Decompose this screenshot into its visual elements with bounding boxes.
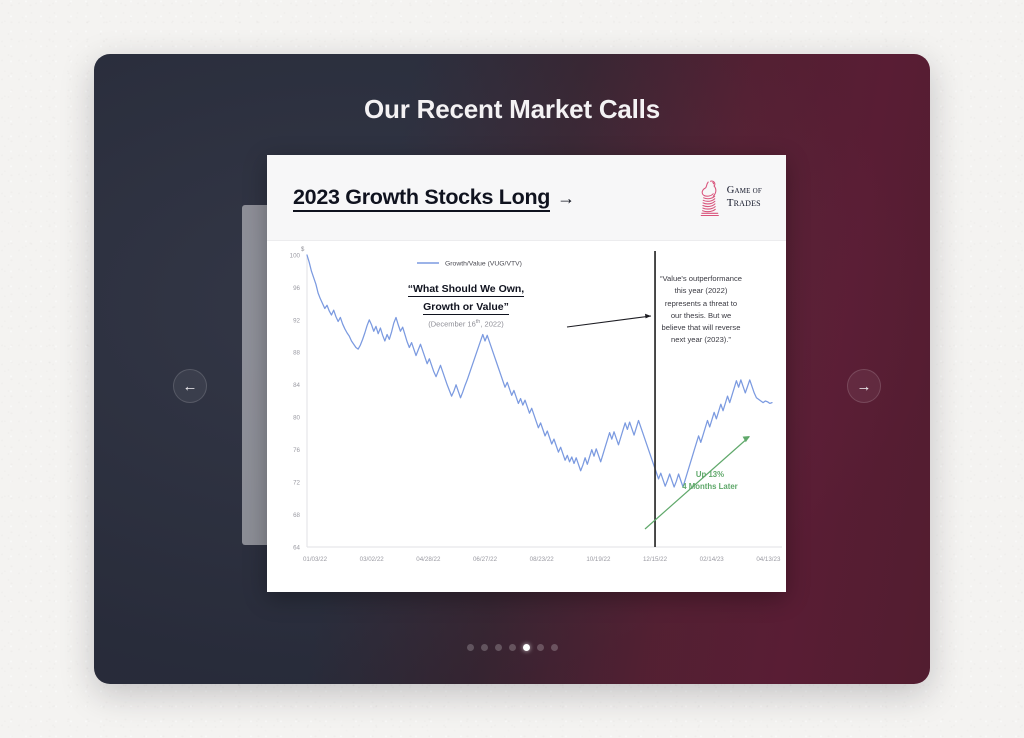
y-axis-unit-symbol: $: [301, 247, 305, 253]
gain-annotation: Up 13% 4 Months Later: [665, 469, 755, 492]
slide-heading[interactable]: 2023 Growth Stocks Long→: [293, 185, 575, 210]
brand-wordmark: GAMEOF TRADES: [727, 186, 762, 209]
y-tick-label: 72: [293, 480, 300, 487]
slide-heading-arrow-icon: →: [557, 188, 575, 208]
y-tick-label: 64: [293, 544, 300, 551]
call-annotation-line1: “What Should We Own,: [408, 283, 524, 297]
active-slide-card[interactable]: 2023 Growth Stocks Long→: [267, 155, 786, 592]
x-tick-label: 02/14/23: [700, 556, 725, 563]
x-tick-label: 04/28/22: [416, 556, 441, 563]
pagination-dot-3[interactable]: [495, 644, 502, 651]
call-date-suffix: , 2022): [480, 320, 503, 329]
call-annotation: “What Should We Own, Growth or Value” (D…: [371, 279, 561, 329]
pagination-dots[interactable]: [94, 644, 930, 651]
annotation-pointer-arrow: [567, 316, 651, 327]
gain-annotation-line1: Up 13%: [665, 469, 755, 481]
x-tick-label: 03/02/22: [360, 556, 385, 563]
x-tick-label: 01/03/22: [303, 556, 328, 563]
thesis-quote-line: “Value's outperformance: [640, 273, 762, 285]
y-axis: 646872768084889296100: [290, 252, 301, 551]
y-tick-label: 80: [293, 415, 300, 422]
pagination-dot-4[interactable]: [509, 644, 516, 651]
brand-logo: GAMEOF TRADES: [697, 178, 762, 218]
slide-heading-label: 2023 Growth Stocks Long: [293, 185, 550, 212]
thesis-quote-line: our thesis. But we: [640, 310, 762, 322]
x-tick-label: 04/13/23: [756, 556, 781, 563]
carousel-prev-button[interactable]: ←: [173, 369, 207, 403]
y-tick-label: 100: [290, 252, 301, 259]
call-date-prefix: (December 16: [428, 320, 476, 329]
x-axis: 01/03/2203/02/2204/28/2206/27/2208/23/22…: [303, 556, 781, 563]
arrow-right-icon: →: [857, 378, 872, 395]
brand-ame: AME: [734, 187, 750, 195]
thesis-quote-line: believe that will reverse: [640, 322, 762, 334]
gain-annotation-line2: 4 Months Later: [665, 481, 755, 493]
x-tick-label: 06/27/22: [473, 556, 498, 563]
thesis-quote-line: this year (2022): [640, 285, 762, 297]
call-annotation-line2: Growth or Value”: [423, 301, 509, 315]
slide-stack: 2023 Growth Stocks Long→: [94, 155, 930, 595]
legend-label: Growth/Value (VUG/VTV): [445, 261, 522, 268]
y-tick-label: 96: [293, 285, 300, 292]
brand-rades: RADES: [734, 199, 761, 208]
brand-wordmark-line2: TRADES: [727, 198, 762, 209]
brand-t: T: [727, 197, 734, 209]
call-annotation-date: (December 16th, 2022): [371, 319, 561, 329]
pagination-dot-6[interactable]: [537, 644, 544, 651]
y-tick-label: 76: [293, 447, 300, 454]
y-tick-label: 84: [293, 382, 300, 389]
page-title: Our Recent Market Calls: [94, 94, 930, 125]
chess-knight-icon: [697, 178, 723, 218]
x-tick-label: 12/15/22: [643, 556, 668, 563]
y-tick-label: 68: [293, 512, 300, 519]
arrow-left-icon: ←: [183, 378, 198, 395]
carousel-next-button[interactable]: →: [847, 369, 881, 403]
brand-wordmark-line1: GAMEOF: [727, 186, 762, 197]
brand-of: OF: [753, 187, 762, 195]
y-tick-label: 88: [293, 350, 300, 357]
pagination-dot-2[interactable]: [481, 644, 488, 651]
x-tick-label: 08/23/22: [530, 556, 555, 563]
thesis-quote-line: next year (2023).”: [640, 334, 762, 346]
carousel-panel: Our Recent Market Calls 2023 Growth Stoc…: [94, 54, 930, 684]
thesis-quote-line: represents a threat to: [640, 298, 762, 310]
slide-header: 2023 Growth Stocks Long→: [267, 155, 786, 241]
y-tick-label: 92: [293, 317, 300, 324]
thesis-quote: “Value's outperformance this year (2022)…: [640, 273, 762, 347]
x-tick-label: 10/19/22: [586, 556, 611, 563]
pagination-dot-5[interactable]: [523, 644, 530, 651]
chart-area: 646872768084889296100 01/03/2203/02/2204…: [267, 241, 786, 592]
pagination-dot-1[interactable]: [467, 644, 474, 651]
pagination-dot-7[interactable]: [551, 644, 558, 651]
